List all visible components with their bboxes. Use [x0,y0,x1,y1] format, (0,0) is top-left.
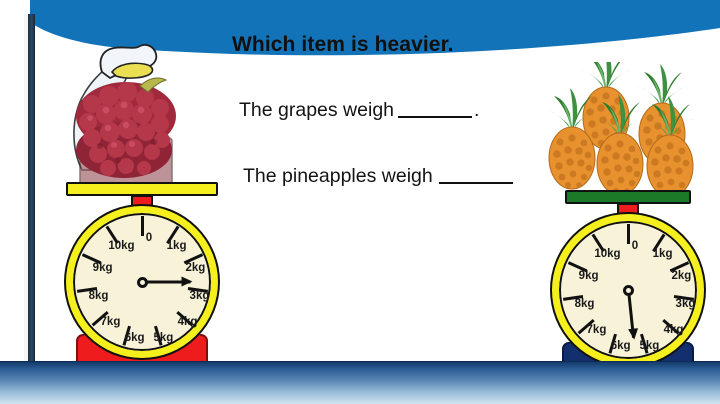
dial-label-9kg: 9kg [93,262,113,274]
grapes-answer-blank[interactable] [398,102,472,118]
dial-label-0: 0 [632,240,638,252]
dial-label-3kg: 3kg [190,290,210,302]
dial-needle [142,281,190,284]
pineapples-scale-tray [565,190,691,204]
dial-label-1kg: 1kg [653,248,673,260]
dial-label-5kg: 5kg [639,340,659,352]
dial-label-6kg: 6kg [125,332,145,344]
dial-label-10kg: 10kg [108,240,134,252]
floor-gradient [0,362,720,404]
pineapples-scale-dial: 01kg2kg3kg4kg5kg6kg7kg8kg9kg10kg [552,214,704,366]
dial-label-3kg: 3kg [676,298,696,310]
pineapples-sentence: The pineapples weigh [243,165,513,188]
pineapples-image [546,62,698,202]
grapes-scale-tray [66,182,218,196]
grapes-image [62,42,180,192]
dial-label-7kg: 7kg [101,316,121,328]
dial-tick [141,216,144,282]
dial-label-8kg: 8kg [89,290,109,302]
dial-label-10kg: 10kg [594,248,620,260]
page-title: Which item is heavier. [232,33,454,57]
dial-hub [623,285,634,296]
dial-label-2kg: 2kg [671,270,691,282]
slide-stage: Which item is heavier. The grapes weigh.… [0,0,720,404]
grapes-scale-dial: 01kg2kg3kg4kg5kg6kg7kg8kg9kg10kg [66,206,218,358]
dial-label-1kg: 1kg [167,240,187,252]
slide-left-border [28,14,35,362]
grapes-dial-face: 01kg2kg3kg4kg5kg6kg7kg8kg9kg10kg [73,213,211,351]
dial-label-2kg: 2kg [185,262,205,274]
dial-label-5kg: 5kg [153,332,173,344]
pineapples-dial-face: 01kg2kg3kg4kg5kg6kg7kg8kg9kg10kg [559,221,697,359]
dial-label-7kg: 7kg [587,324,607,336]
pineapples-sentence-prefix: The pineapples weigh [243,165,433,187]
dial-tick [627,224,630,290]
dial-label-0: 0 [146,232,152,244]
dial-label-4kg: 4kg [178,316,198,328]
grapes-sentence: The grapes weigh. [239,99,479,122]
grapes-sentence-suffix: . [474,99,479,121]
dial-label-8kg: 8kg [575,298,595,310]
dial-hub [137,277,148,288]
dial-label-4kg: 4kg [664,324,684,336]
dial-label-6kg: 6kg [611,340,631,352]
dial-label-9kg: 9kg [579,270,599,282]
pineapples-answer-blank[interactable] [439,168,513,184]
grapes-sentence-prefix: The grapes weigh [239,99,394,121]
